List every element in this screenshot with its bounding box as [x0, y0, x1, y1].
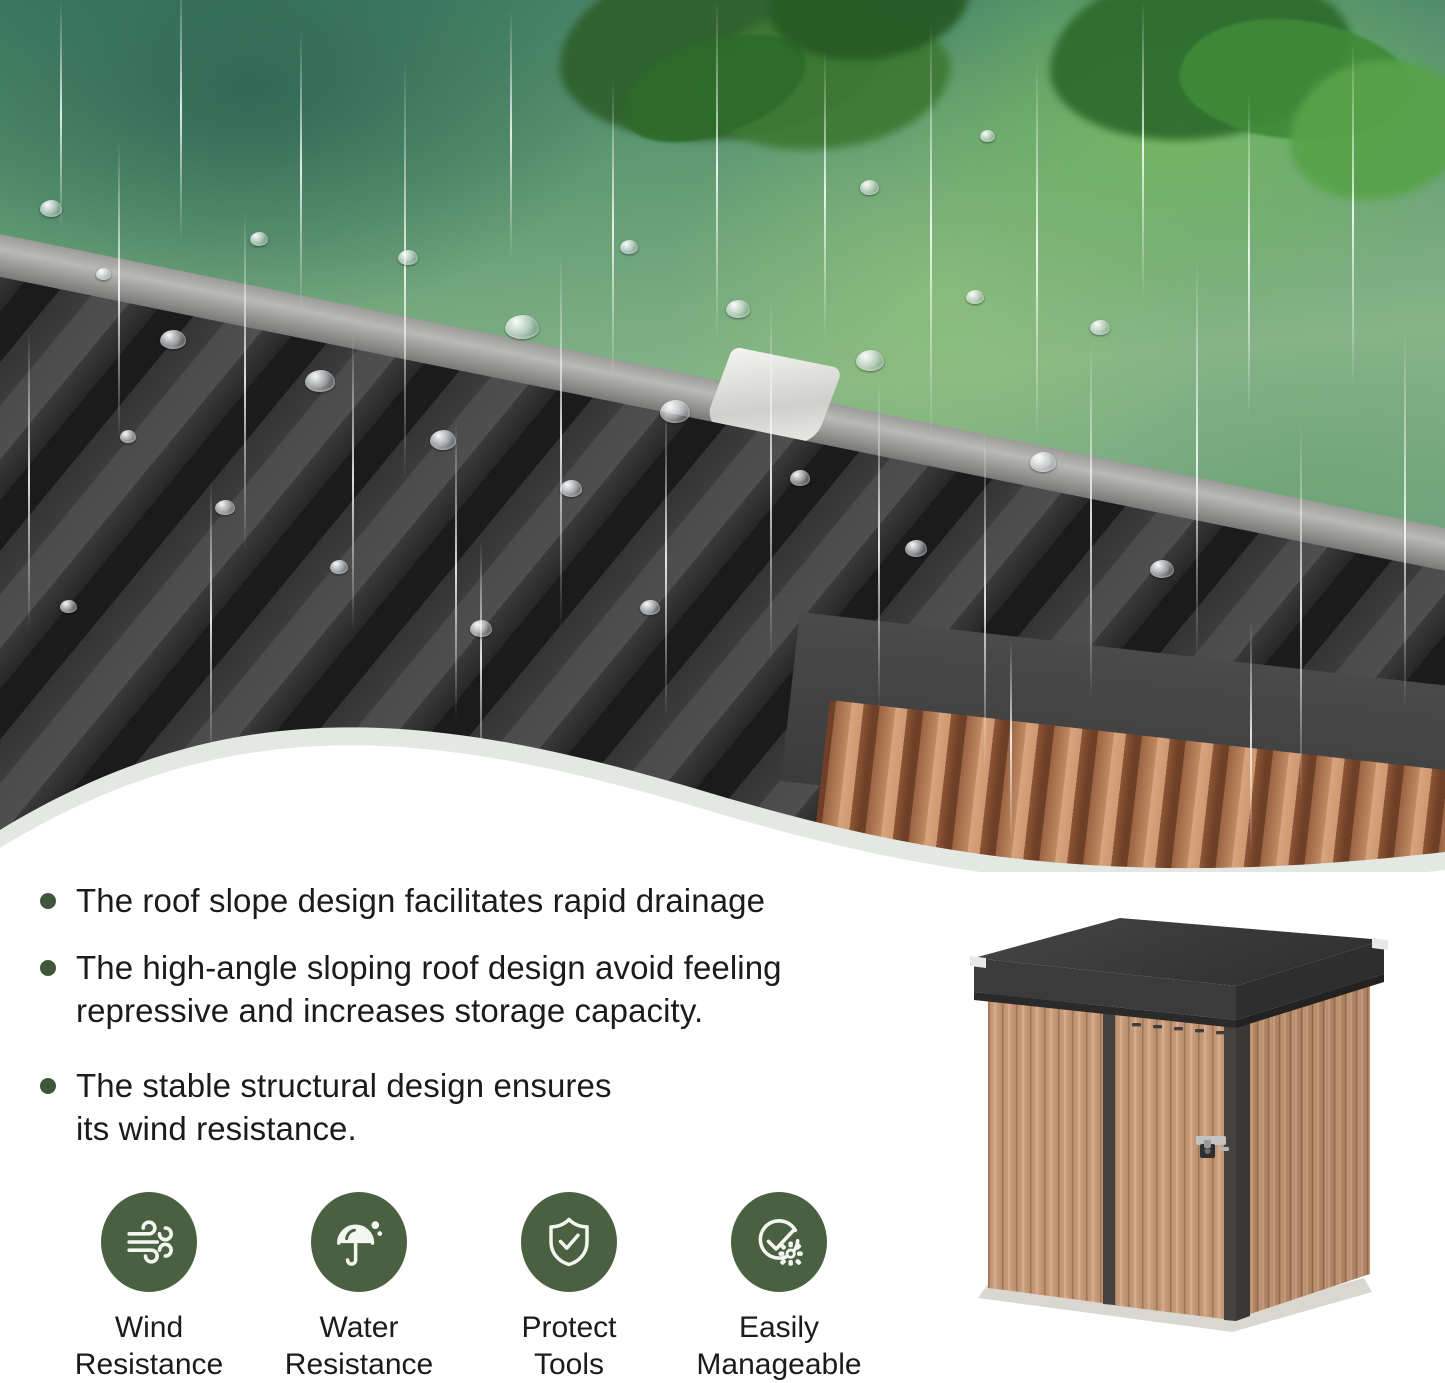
hero-photo: [0, 0, 1445, 880]
feature-protect-tools: Protect Tools: [464, 1192, 674, 1383]
feature-label: Water Resistance: [285, 1310, 433, 1383]
bullet-text: The high-angle sloping roof design avoid…: [76, 947, 782, 1033]
shield-check-icon: [542, 1215, 596, 1269]
corner-post: [1236, 1017, 1250, 1321]
shed-door[interactable]: [1112, 1008, 1232, 1320]
bullet-text: The stable structural design ensures its…: [76, 1065, 612, 1151]
feature-label: Protect Tools: [521, 1310, 616, 1383]
bullet-dot-icon: [40, 893, 56, 909]
door-jamb-right: [1224, 1021, 1236, 1321]
feature-label: Wind Resistance: [75, 1310, 223, 1383]
feature-label: Easily Manageable: [696, 1310, 861, 1383]
feature-icon-badge: [101, 1192, 197, 1292]
list-item: The stable structural design ensures its…: [40, 1065, 940, 1151]
list-item: The roof slope design facilitates rapid …: [40, 880, 940, 923]
feature-bullet-list: The roof slope design facilitates rapid …: [40, 880, 940, 1150]
wave-divider: [0, 620, 1445, 880]
feature-icon-badge: [311, 1192, 407, 1292]
feature-easily-manageable: Easily Manageable: [674, 1192, 884, 1383]
feature-water-resistance: Water Resistance: [254, 1192, 464, 1383]
feature-icon-row: Wind Resistance Water Resistance: [44, 1192, 924, 1383]
product-image-shed: [960, 900, 1390, 1370]
check-gear-icon: [751, 1214, 807, 1270]
roof-corner-cap: [1372, 938, 1388, 950]
feature-icon-badge: [521, 1192, 617, 1292]
feature-wind-resistance: Wind Resistance: [44, 1192, 254, 1383]
list-item: The high-angle sloping roof design avoid…: [40, 947, 940, 1033]
wind-icon: [121, 1214, 177, 1270]
roof-corner-cap: [970, 956, 986, 968]
door-jamb-left: [1103, 1007, 1115, 1305]
bullet-text: The roof slope design facilitates rapid …: [76, 880, 765, 923]
feature-icon-badge: [731, 1192, 827, 1292]
bullet-dot-icon: [40, 960, 56, 976]
bullet-dot-icon: [40, 1078, 56, 1094]
umbrella-rain-icon: [332, 1215, 386, 1269]
shed-side-wall: [1232, 978, 1370, 1320]
